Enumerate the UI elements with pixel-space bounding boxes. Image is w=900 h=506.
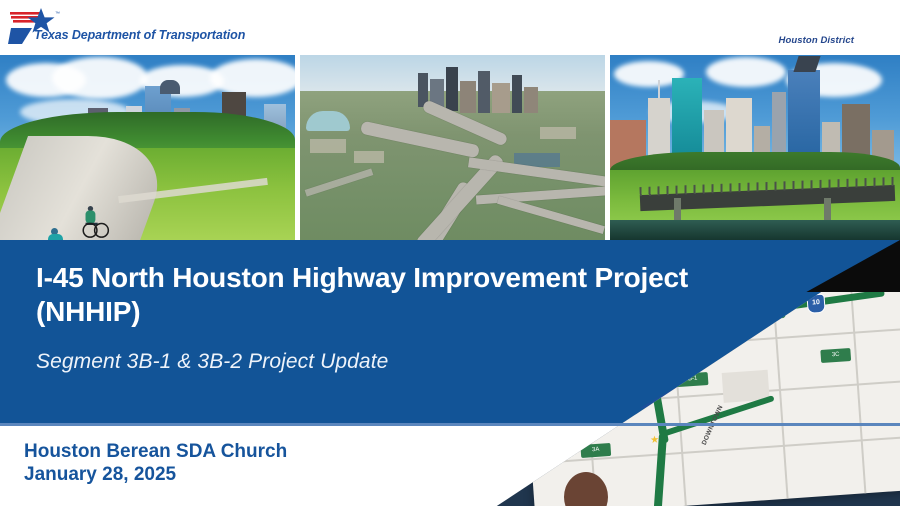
hero-photo-strip	[0, 55, 900, 240]
building-crown	[160, 80, 180, 94]
txdot-logo: ™ Texas Department of Transportation	[8, 6, 238, 50]
photo-aerial-highway-interchange	[300, 55, 605, 240]
building	[512, 75, 522, 113]
bayou-water	[610, 220, 900, 240]
txdot-logo-text: Texas Department of Transportation	[34, 28, 245, 42]
antenna	[658, 80, 660, 98]
footer-date: January 28, 2025	[24, 463, 287, 486]
footer-venue: Houston Berean SDA Church	[24, 440, 287, 463]
building	[492, 83, 510, 113]
cloud	[52, 57, 148, 99]
page-title: I-45 North Houston Highway Improvement P…	[36, 261, 766, 329]
footer-meeting-info: Houston Berean SDA Church January 28, 20…	[24, 440, 287, 486]
star-marker: ★	[650, 436, 660, 447]
segment-tag: 3C	[820, 348, 851, 363]
photo-houston-skyline-bayou-bridge	[610, 55, 900, 240]
slide-root: ™ Texas Department of Transportation Hou…	[0, 0, 900, 506]
building	[524, 87, 538, 113]
svg-text:™: ™	[55, 11, 60, 17]
building	[478, 71, 490, 113]
cloud	[706, 57, 786, 87]
band-underline	[0, 423, 900, 426]
stadium-dome	[306, 111, 350, 131]
page-subtitle: Segment 3B-1 & 3B-2 Project Update	[36, 350, 636, 374]
district-label: Houston District	[779, 35, 855, 46]
photo-houston-skyline-bike-trail	[0, 55, 295, 240]
slide-header: ™ Texas Department of Transportation Hou…	[0, 0, 900, 55]
building	[460, 81, 476, 113]
building	[446, 67, 458, 111]
